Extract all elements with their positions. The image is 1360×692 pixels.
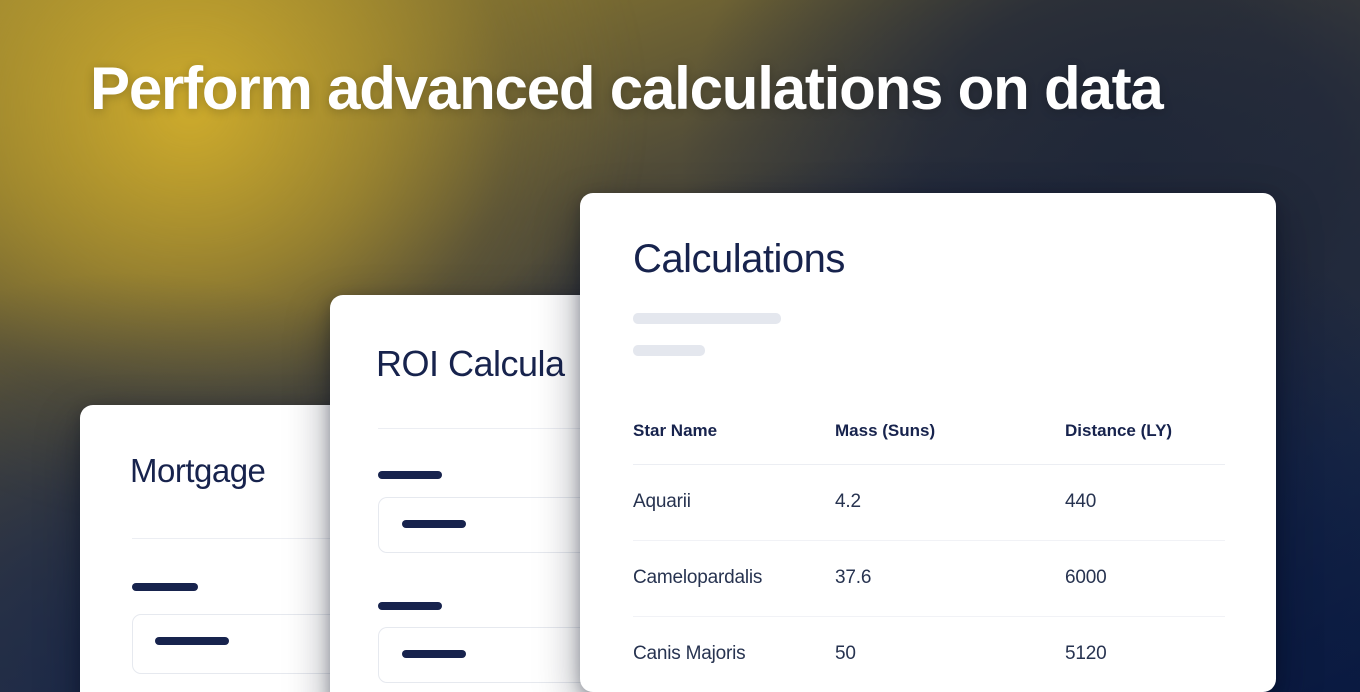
column-header-mass[interactable]: Mass (Suns) (835, 421, 1065, 465)
table-header-row: Star Name Mass (Suns) Distance (LY) (633, 421, 1225, 465)
cell-distance: 6000 (1065, 541, 1225, 617)
cell-star-name: Canis Majoris (633, 617, 835, 692)
cell-distance: 440 (1065, 465, 1225, 541)
placeholder-bar-long (633, 313, 781, 324)
table-header: Star Name Mass (Suns) Distance (LY) (633, 421, 1225, 465)
card-roi-input-value-2 (402, 650, 466, 658)
card-calculations-title: Calculations (633, 237, 845, 282)
cell-distance: 5120 (1065, 617, 1225, 692)
table-row[interactable]: Aquarii 4.2 440 (633, 465, 1225, 541)
table-row[interactable]: Camelopardalis 37.6 6000 (633, 541, 1225, 617)
cell-star-name: Camelopardalis (633, 541, 835, 617)
placeholder-bar-short (633, 345, 705, 356)
card-calculations[interactable]: Calculations Star Name Mass (Suns) Dista… (580, 193, 1276, 692)
promo-hero: Perform advanced calculations on data Mo… (0, 0, 1360, 692)
card-roi-field-label-2 (378, 602, 442, 610)
star-data-table: Star Name Mass (Suns) Distance (LY) Aqua… (633, 421, 1225, 692)
column-header-distance[interactable]: Distance (LY) (1065, 421, 1225, 465)
card-roi-field-label-1 (378, 471, 442, 479)
cell-mass: 4.2 (835, 465, 1065, 541)
cell-star-name: Aquarii (633, 465, 835, 541)
cell-mass: 37.6 (835, 541, 1065, 617)
cell-mass: 50 (835, 617, 1065, 692)
page-title: Perform advanced calculations on data (90, 56, 1290, 122)
column-header-star-name[interactable]: Star Name (633, 421, 835, 465)
card-mortgage-input-value (155, 637, 229, 645)
card-roi-input-value-1 (402, 520, 466, 528)
table-row[interactable]: Canis Majoris 50 5120 (633, 617, 1225, 692)
table-body: Aquarii 4.2 440 Camelopardalis 37.6 6000… (633, 465, 1225, 692)
card-mortgage-title: Mortgage (130, 452, 265, 490)
card-mortgage-field-label (132, 583, 198, 591)
